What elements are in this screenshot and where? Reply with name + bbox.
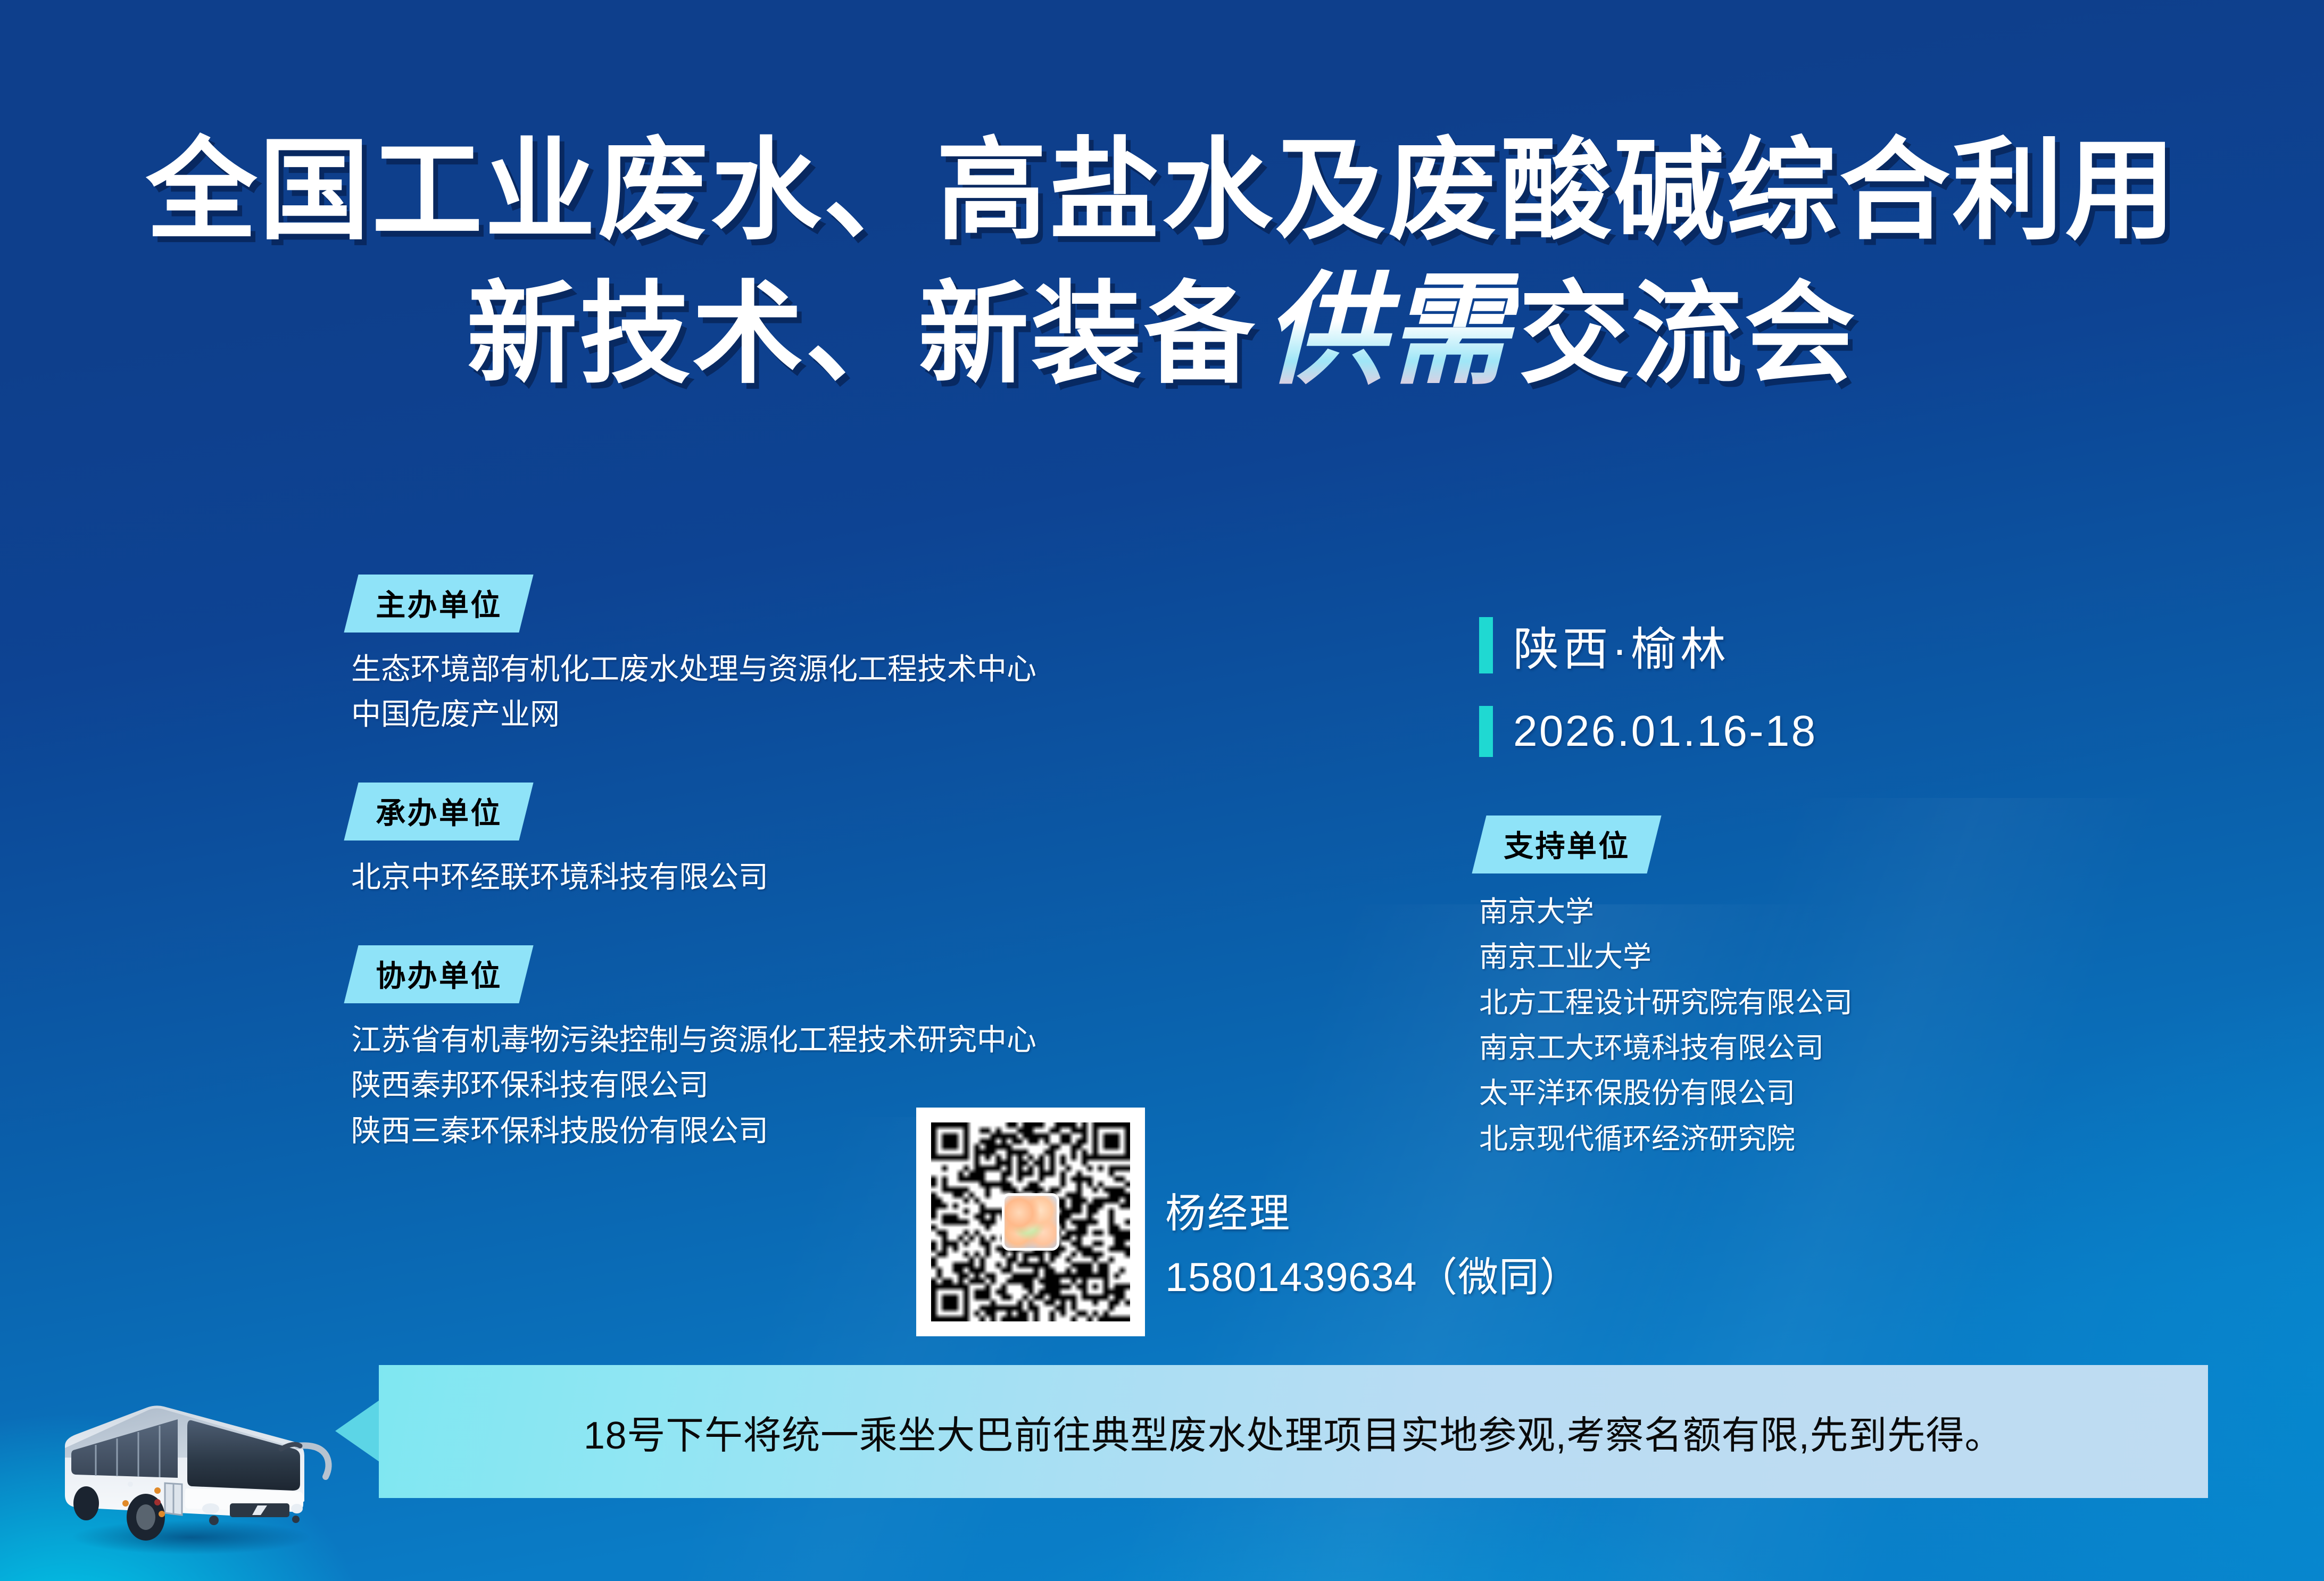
section-organizer: 承办单位 北京中环经联环境科技有限公司: [351, 783, 1256, 900]
spacer: [351, 900, 1256, 945]
spacer: [1479, 678, 2277, 706]
badge-co-organizer: 协办单位: [344, 945, 534, 1003]
list-item: 中国危废产业网: [351, 692, 1256, 737]
title-highlight-gongxu: 供需: [1257, 265, 1518, 399]
badge-host-label: 主办单位: [376, 581, 502, 625]
list-item: 北京中环经联环境科技有限公司: [351, 854, 1256, 900]
list-item: 北方工程设计研究院有限公司: [1479, 980, 2277, 1026]
contact-block: 杨经理 15801439634（微同）: [1165, 1189, 1580, 1303]
qr-avatar: [1002, 1193, 1059, 1251]
list-item: 南京工业大学: [1479, 935, 2277, 980]
contact-phone[interactable]: 15801439634（微同）: [1165, 1253, 1580, 1303]
badge-organizer: 承办单位: [344, 783, 534, 841]
section-host: 主办单位 生态环境部有机化工废水处理与资源化工程技术中心 中国危废产业网: [351, 575, 1256, 737]
list-item: 生态环境部有机化工废水处理与资源化工程技术中心: [351, 646, 1256, 692]
bus-icon: [32, 1351, 351, 1564]
badge-supporter: 支持单位: [1472, 816, 1662, 873]
title-line-2-part-a: 新技术、新装备: [467, 274, 1257, 396]
event-date: 2026.01.16-18: [1513, 706, 1817, 756]
contact-name: 杨经理: [1165, 1189, 1580, 1239]
list-item: 南京工大环境科技有限公司: [1479, 1026, 2277, 1071]
poster-title: 全国工业废水、高盐水及废酸碱综合利用 新技术、新装备供需交流会: [0, 133, 2324, 397]
badge-supporter-label: 支持单位: [1504, 822, 1630, 866]
title-line-2-part-b: 交流会: [1518, 274, 1857, 396]
qr-code-icon[interactable]: [916, 1108, 1145, 1336]
spacer: [1479, 873, 2277, 889]
supporter-list: 南京大学 南京工业大学 北方工程设计研究院有限公司 南京工大环境科技有限公司 太…: [1479, 889, 2277, 1162]
poster-canvas: 全国工业废水、高盐水及废酸碱综合利用 新技术、新装备供需交流会 主办单位 生态环…: [0, 0, 2324, 1581]
location-row: 陕西·榆林: [1479, 612, 2277, 678]
organizer-list: 北京中环经联环境科技有限公司: [351, 854, 1256, 900]
list-item: 北京现代循环经济研究院: [1479, 1117, 2277, 1162]
spacer: [351, 737, 1256, 783]
spacer: [1479, 757, 2277, 816]
list-item: 南京大学: [1479, 889, 2277, 935]
host-list: 生态环境部有机化工废水处理与资源化工程技术中心 中国危废产业网: [351, 646, 1256, 737]
list-item: 江苏省有机毒物污染控制与资源化工程技术研究中心: [351, 1017, 1256, 1062]
badge-host: 主办单位: [344, 575, 534, 633]
notice-banner: 18号下午将统一乘坐大巴前往典型废水处理项目实地参观,考察名额有限,先到先得。: [379, 1365, 2208, 1498]
event-info-column: 陕西·榆林 2026.01.16-18 支持单位 南京大学 南京工业大学 北方工…: [1479, 612, 2277, 1162]
event-location: 陕西·榆林: [1513, 612, 1730, 678]
list-item: 太平洋环保股份有限公司: [1479, 1071, 2277, 1116]
badge-organizer-label: 承办单位: [376, 789, 502, 833]
badge-co-organizer-label: 协办单位: [376, 952, 502, 995]
title-line-2: 新技术、新装备供需交流会: [0, 268, 2324, 397]
title-line-1: 全国工业废水、高盐水及废酸碱综合利用: [0, 133, 2324, 250]
date-row: 2026.01.16-18: [1479, 706, 2277, 757]
organizers-column: 主办单位 生态环境部有机化工废水处理与资源化工程技术中心 中国危废产业网 承办单…: [351, 575, 1256, 1153]
list-item: 陕西秦邦环保科技有限公司: [351, 1062, 1256, 1108]
accent-bar-icon: [1479, 706, 1493, 757]
accent-bar-icon: [1479, 617, 1493, 673]
notice-banner-text: 18号下午将统一乘坐大巴前往典型废水处理项目实地参观,考察名额有限,先到先得。: [584, 1404, 2003, 1460]
arrow-right-icon: [335, 1399, 381, 1463]
